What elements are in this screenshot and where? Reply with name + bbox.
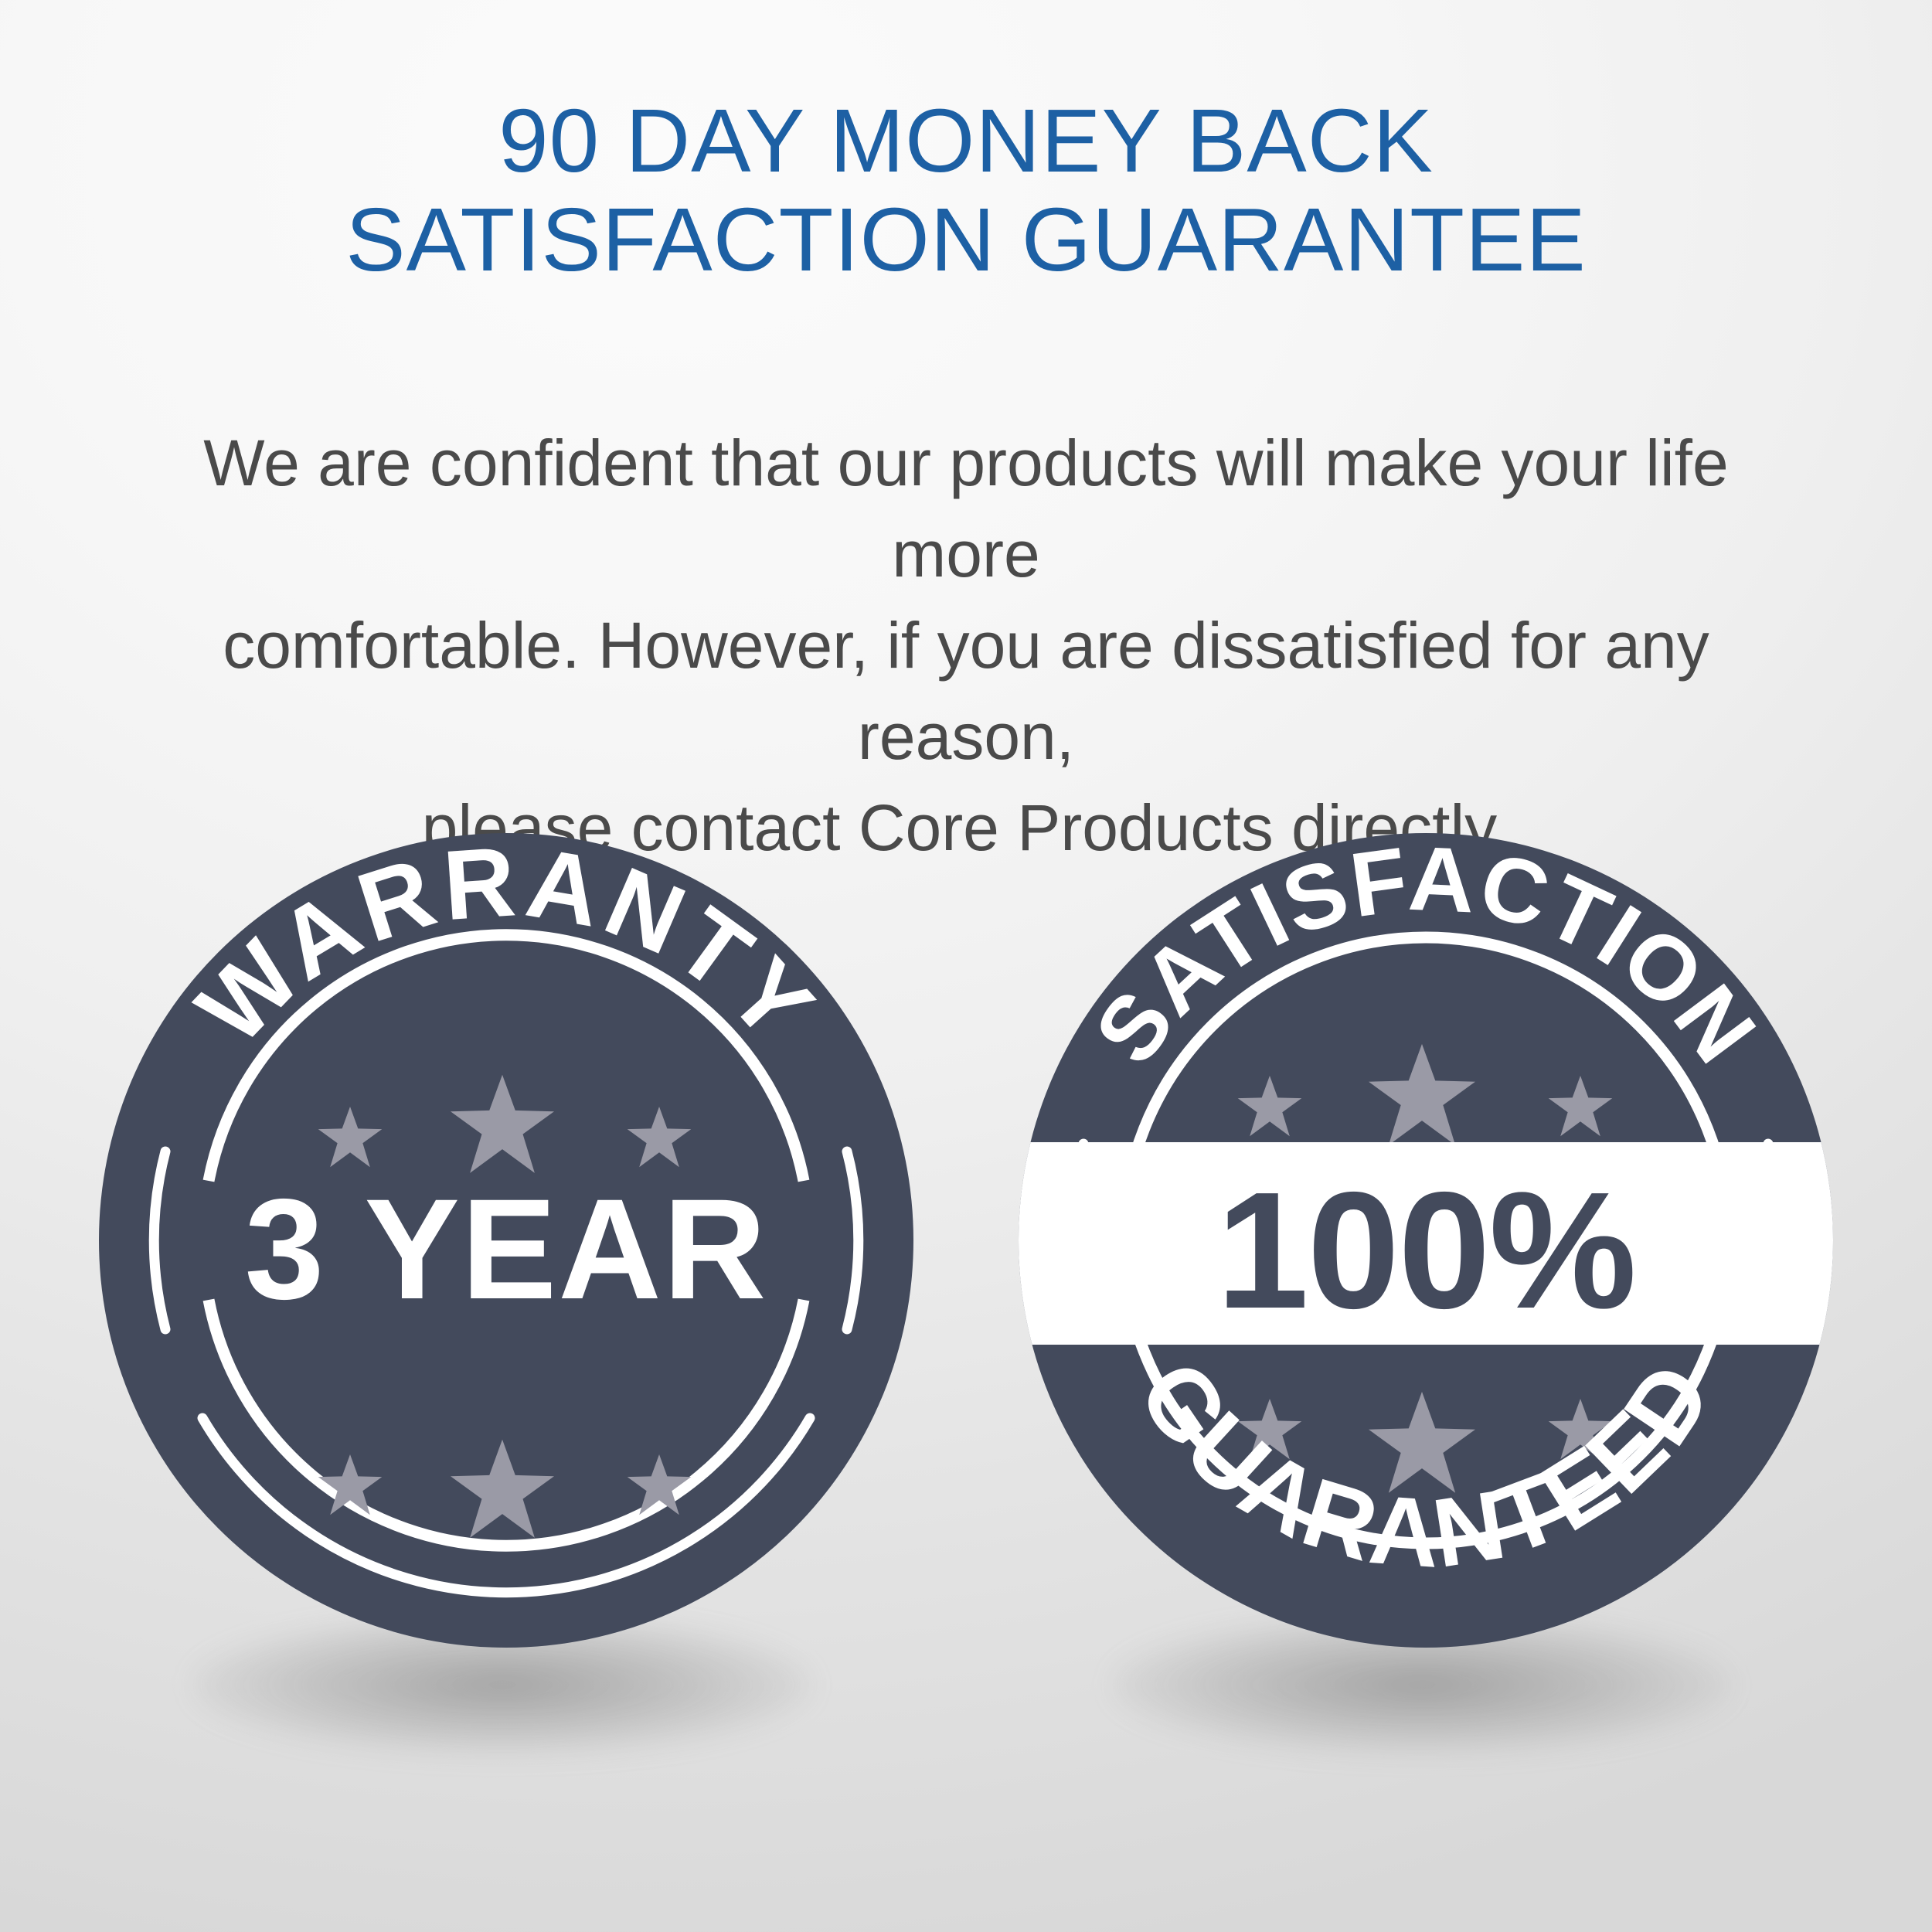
guarantee-description: We are confident that our products will … [131, 417, 1801, 873]
warranty-term-text: 3 YEAR [245, 1170, 768, 1329]
warranty-badge: WARRANTY 3 YEAR [85, 819, 927, 1662]
satisfaction-percent-text: 100% [1216, 1157, 1635, 1343]
page-title-line-2: SATISFACTION GUARANTEE [0, 190, 1932, 289]
guarantee-graphic: 90 DAY MONEY BACK SATISFACTION GUARANTEE… [0, 0, 1932, 1932]
description-line-2: comfortable. However, if you are dissati… [131, 600, 1801, 782]
satisfaction-badge: 100% SATISFACTION GUARANTEED [1005, 819, 1847, 1662]
page-title-line-1: 90 DAY MONEY BACK [0, 91, 1932, 190]
badge-row: WARRANTY 3 YEAR [0, 819, 1932, 1932]
description-line-1: We are confident that our products will … [131, 417, 1801, 600]
page-title: 90 DAY MONEY BACK SATISFACTION GUARANTEE [0, 91, 1932, 289]
